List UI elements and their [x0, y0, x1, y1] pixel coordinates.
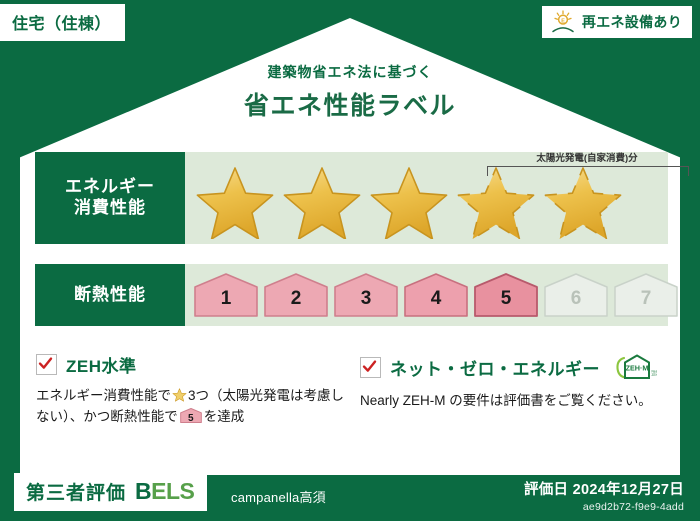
- bels-certification-box: 第三者評価 BELS: [14, 473, 207, 511]
- svg-text:ZEH·M: ZEH·M: [626, 364, 649, 373]
- insulation-level-1: 1: [193, 272, 259, 318]
- zeh-standard-description: エネルギー消費性能で3つ（太陽光発電は考慮しない）、かつ断熱性能で5を達成: [36, 386, 346, 428]
- dwelling-type-label: 住宅（住棟）: [12, 16, 111, 33]
- criteria-net-zero-energy: ネット・ゼロ・エネルギー ZEH·M Nearly ZEH-M Nearly Z…: [360, 352, 660, 412]
- evaluation-date: 評価日 2024年12月27日: [524, 478, 684, 499]
- insulation-level-4: 4: [403, 272, 469, 318]
- zeh-desc-part3: を達成: [204, 409, 245, 424]
- energy-star-1-filled: [193, 163, 277, 239]
- net-zero-title: ネット・ゼロ・エネルギー: [390, 355, 600, 380]
- star-icon: [172, 387, 187, 402]
- insulation-badge-icon: 5: [180, 407, 202, 424]
- insulation-level-3: 3: [333, 272, 399, 318]
- title-main: 省エネ性能ラベル: [0, 86, 700, 122]
- title-subtitle: 建築物省エネ法に基づく: [0, 62, 700, 82]
- solar-annotation-bracket: [487, 166, 689, 176]
- renewable-equipment-badge: E 再エネ設備あり: [542, 6, 692, 38]
- property-name: campanella高須: [231, 487, 326, 506]
- bels-jp-label: 第三者評価: [26, 478, 126, 505]
- sun-renewable-icon: E: [550, 10, 576, 34]
- energy-label-line2: 消費性能: [74, 198, 146, 219]
- insulation-level-7: 7: [613, 272, 679, 318]
- energy-star-2-filled: [280, 163, 364, 239]
- zeh-desc-part1: エネルギー消費性能で: [36, 388, 171, 403]
- insulation-level-2: 2: [263, 272, 329, 318]
- energy-label-line1: エネルギー: [65, 177, 155, 198]
- energy-performance-row-label: エネルギー 消費性能: [35, 152, 185, 244]
- bels-logo: BELS: [135, 478, 194, 505]
- criteria-zeh-standard: ZEH水準 エネルギー消費性能で3つ（太陽光発電は考慮しない）、かつ断熱性能で5…: [36, 352, 346, 428]
- svg-text:E: E: [561, 18, 565, 24]
- label-footer: 第三者評価 BELS campanella高須 評価日 2024年12月27日 …: [0, 473, 700, 521]
- solar-annotation-label: 太陽光発電(自家消費)分: [485, 150, 689, 164]
- insulation-level-6: 6: [543, 272, 609, 318]
- renewable-badge-label: 再エネ設備あり: [582, 12, 682, 32]
- zeh-standard-header: ZEH水準: [36, 352, 346, 377]
- insulation-level-5-current: 5: [473, 272, 539, 318]
- net-zero-description: Nearly ZEH-M の要件は評価書をご覧ください。: [360, 391, 660, 412]
- insulation-row-label: 断熱性能: [35, 264, 185, 326]
- zeh-m-logo: ZEH·M Nearly ZEH-M: [609, 352, 657, 382]
- bels-logo-b: B: [135, 478, 151, 504]
- dwelling-type-tag: 住宅（住棟）: [0, 4, 125, 41]
- evaluation-info: 評価日 2024年12月27日 ae9d2b72-f9e9-4add: [524, 478, 684, 513]
- label-title-block: 建築物省エネ法に基づく 省エネ性能ラベル: [0, 62, 700, 122]
- insulation-performance-row: 断熱性能 1 2 3 4: [35, 264, 668, 326]
- insulation-badge-number: 5: [180, 411, 202, 427]
- net-zero-header: ネット・ゼロ・エネルギー ZEH·M Nearly ZEH-M: [360, 352, 660, 382]
- insulation-rating-body: 1 2 3 4 5: [185, 264, 679, 326]
- bels-logo-els: ELS: [151, 478, 194, 504]
- zeh-standard-title: ZEH水準: [66, 352, 137, 377]
- svg-text:ZEH-M: ZEH-M: [652, 373, 658, 377]
- red-check-icon: [36, 354, 57, 375]
- red-check-icon: [360, 357, 381, 378]
- energy-rating-body: 太陽光発電(自家消費)分: [185, 152, 668, 244]
- evaluation-id: ae9d2b72-f9e9-4add: [524, 501, 684, 513]
- energy-performance-label: 住宅（住棟） E 再エネ設備あり 建築物省エネ法に基づく 省エネ性能ラベル: [0, 0, 700, 521]
- energy-performance-row: エネルギー 消費性能 太陽光発電(自家消費)分: [35, 152, 668, 244]
- insulation-label-text: 断熱性能: [74, 285, 146, 306]
- energy-star-3-filled: [367, 163, 451, 239]
- insulation-level-scale: 1 2 3 4 5: [185, 272, 679, 318]
